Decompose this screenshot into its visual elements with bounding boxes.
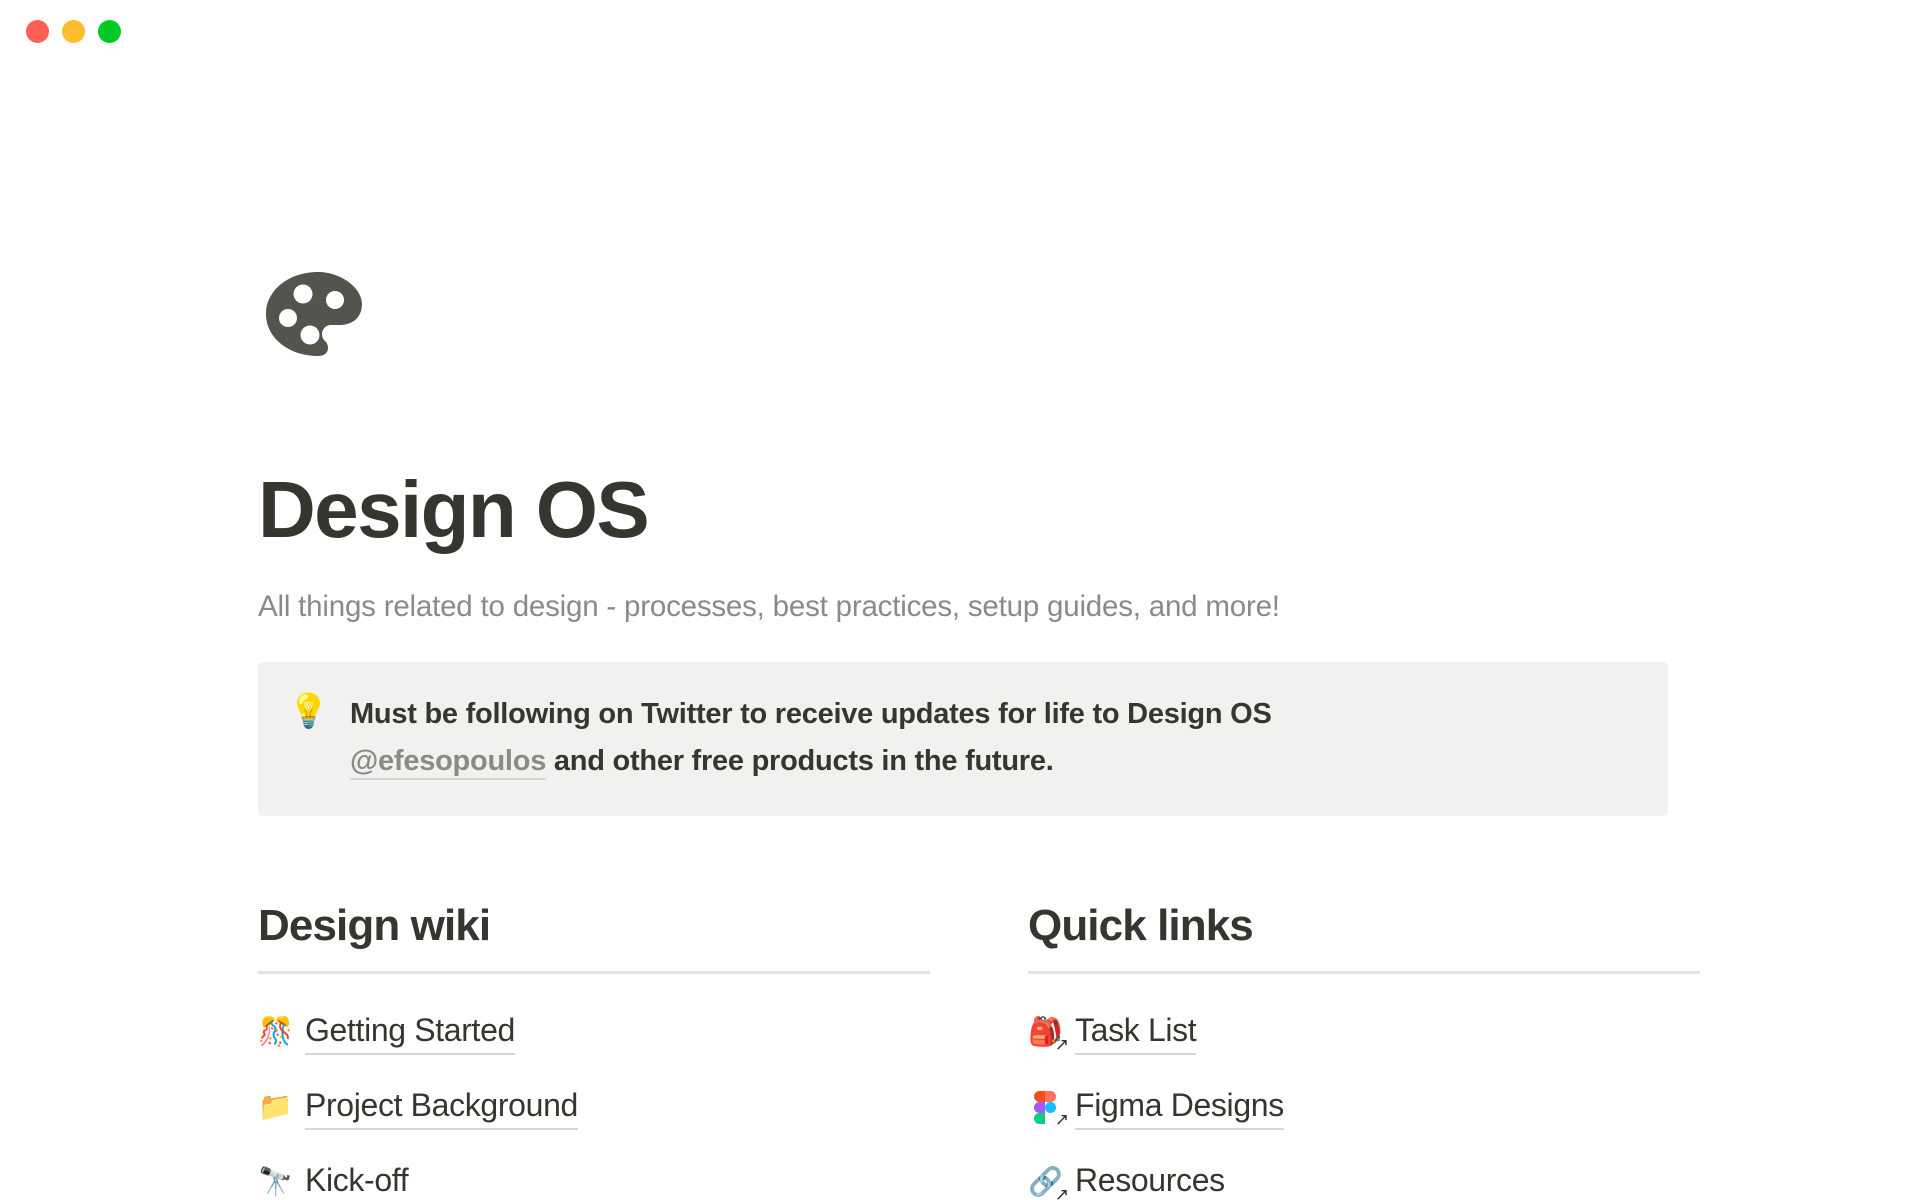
palette-icon[interactable] [258,258,382,382]
list-item-project-background[interactable]: 📁 Project Background [258,1085,915,1130]
section-heading-quick-links[interactable]: Quick links [1028,900,1668,953]
link-label[interactable]: Task List [1075,1010,1196,1055]
link-label[interactable]: Kick-off [305,1160,408,1200]
figma-shape-mid-left [1034,1102,1045,1113]
design-wiki-link-list: 🎊 Getting Started 📁 Project Background 🔭 [258,1010,915,1200]
page-scroll-container[interactable]: Design OS All things related to design -… [0,62,1920,1200]
confetti-ball-emoji: 🎊 [258,1015,292,1049]
columns-container: Design wiki 🎊 Getting Started 📁 Project … [258,900,1668,1200]
figma-mark [1034,1091,1056,1123]
figma-shape-bottom-left [1034,1113,1045,1124]
callout-text: Must be following on Twitter to receive … [350,691,1350,785]
list-item-resources[interactable]: 🔗 ↗ Resources [1028,1160,1668,1200]
callout-block[interactable]: 💡 Must be following on Twitter to receiv… [258,662,1668,816]
link-emoji: 🔗 ↗ [1028,1165,1062,1199]
page-description[interactable]: All things related to design - processes… [258,586,1668,629]
figma-shape-top-left [1034,1091,1045,1102]
minimize-window-button[interactable] [62,20,85,43]
figma-logo-icon: ↗ [1028,1090,1062,1124]
section-divider [1028,971,1700,974]
list-item-getting-started[interactable]: 🎊 Getting Started [258,1010,915,1055]
external-link-arrow-icon: ↗ [1055,1187,1069,1200]
link-label[interactable]: Resources [1075,1160,1225,1200]
column-design-wiki: Design wiki 🎊 Getting Started 📁 Project … [258,900,963,1200]
column-quick-links: Quick links 🎒 ↗ Task List [963,900,1668,1200]
list-item-figma-designs[interactable]: ↗ Figma Designs [1028,1085,1668,1130]
callout-text-before: Must be following on Twitter to receive … [350,698,1272,730]
close-window-button[interactable] [26,20,49,43]
folder-glyph: 📁 [258,1090,293,1123]
section-heading-design-wiki[interactable]: Design wiki [258,900,915,953]
external-link-arrow-icon: ↗ [1055,1037,1069,1054]
window-titlebar [0,0,1920,62]
section-divider [258,971,930,974]
maximize-window-button[interactable] [98,20,121,43]
figma-shape-top-right [1045,1091,1056,1102]
folder-emoji: 📁 [258,1090,292,1124]
list-item-task-list[interactable]: 🎒 ↗ Task List [1028,1010,1668,1055]
lightbulb-emoji: 💡 [288,691,328,731]
callout-text-after: and other free products in the future. [546,745,1053,777]
telescope-emoji: 🔭 [258,1165,292,1199]
link-label[interactable]: Figma Designs [1075,1085,1284,1130]
link-label[interactable]: Project Background [305,1085,578,1130]
page-title[interactable]: Design OS [258,468,1668,552]
link-label[interactable]: Getting Started [305,1010,515,1055]
twitter-handle-link[interactable]: @efesopoulos [350,745,546,780]
external-link-arrow-icon: ↗ [1055,1112,1069,1129]
confetti-ball-glyph: 🎊 [258,1015,293,1048]
list-item-kick-off[interactable]: 🔭 Kick-off [258,1160,915,1200]
backpack-emoji: 🎒 ↗ [1028,1015,1062,1049]
page-content: Design OS All things related to design -… [0,62,1920,1200]
quick-links-link-list: 🎒 ↗ Task List [1028,1010,1668,1200]
telescope-glyph: 🔭 [258,1165,293,1198]
